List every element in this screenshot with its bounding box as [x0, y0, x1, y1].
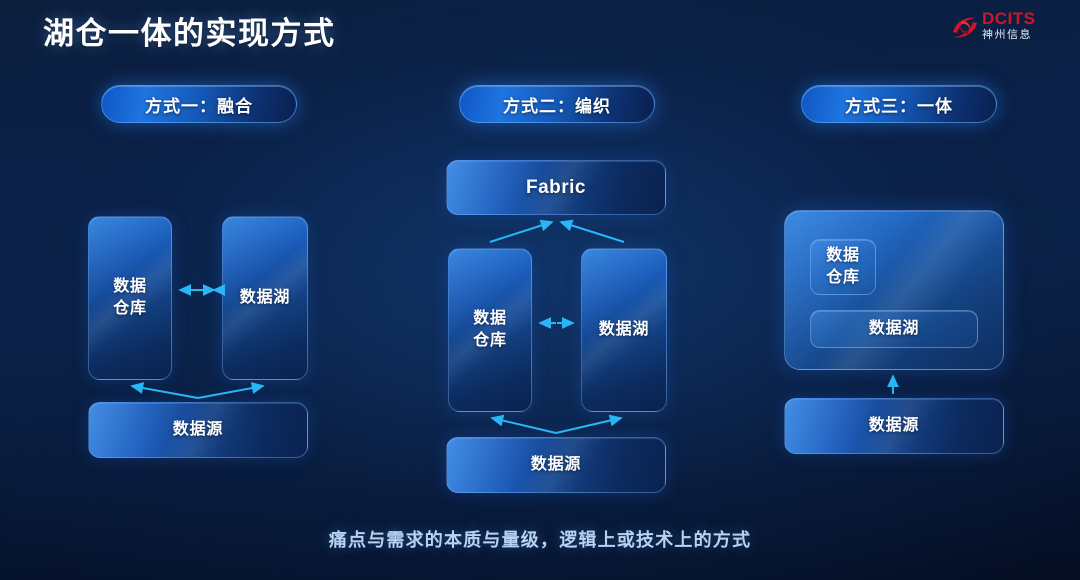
logo-english-text: DCITS [982, 10, 1036, 28]
c1-data-lake-label: 数据湖 [240, 287, 290, 309]
approach-2-pill-label: 方式二：编织 [503, 92, 611, 117]
c2-fabric-label: Fabric [526, 177, 586, 199]
c2-data-warehouse-label: 数据 仓库 [473, 308, 507, 352]
logo-wordmark: DCITS 神州信息 [982, 10, 1036, 42]
dcits-swirl-icon [950, 12, 980, 42]
approach-1-pill-label: 方式一：融合 [145, 92, 253, 117]
approach-1-pill[interactable]: 方式一：融合 [101, 85, 297, 123]
c3-data-lake-label: 数据湖 [869, 318, 919, 340]
approach-3-pill[interactable]: 方式三：一体 [801, 85, 997, 123]
c3-data-source-box[interactable]: 数据源 [784, 398, 1004, 454]
c2-source-fanout-arrows [492, 418, 621, 433]
c3-data-source-label: 数据源 [869, 415, 919, 437]
c1-data-warehouse-label: 数据 仓库 [113, 276, 147, 320]
c1-data-source-label: 数据源 [173, 419, 223, 441]
brand-logo: DCITS 神州信息 [950, 8, 1062, 50]
c2-fabric-box[interactable]: Fabric [446, 160, 666, 215]
c1-data-lake-box[interactable]: 数据湖 [222, 216, 308, 380]
c1-data-source-box[interactable]: 数据源 [88, 402, 308, 458]
c2-data-source-box[interactable]: 数据源 [446, 437, 666, 493]
logo-chinese-text: 神州信息 [982, 29, 1036, 42]
c2-to-fabric-arrows [490, 222, 624, 242]
c3-data-lake-box[interactable]: 数据湖 [810, 310, 978, 348]
c1-data-warehouse-box[interactable]: 数据 仓库 [88, 216, 172, 380]
c3-data-warehouse-label: 数据 仓库 [826, 245, 860, 289]
approach-2-pill[interactable]: 方式二：编织 [459, 85, 655, 123]
c2-data-source-label: 数据源 [531, 454, 581, 476]
c2-data-lake-box[interactable]: 数据湖 [581, 248, 667, 412]
c2-data-warehouse-box[interactable]: 数据 仓库 [448, 248, 532, 412]
c1-source-fanout-arrows [132, 386, 263, 398]
footer-caption: 痛点与需求的本质与量级，逻辑上或技术上的方式 [0, 526, 1080, 552]
c2-data-lake-label: 数据湖 [599, 319, 649, 341]
page-title: 湖仓一体的实现方式 [43, 8, 336, 53]
c3-data-warehouse-box[interactable]: 数据 仓库 [810, 239, 876, 295]
page-header: 湖仓一体的实现方式 DCITS 神州信息 [0, 0, 1080, 62]
approach-3-pill-label: 方式三：一体 [845, 92, 953, 117]
